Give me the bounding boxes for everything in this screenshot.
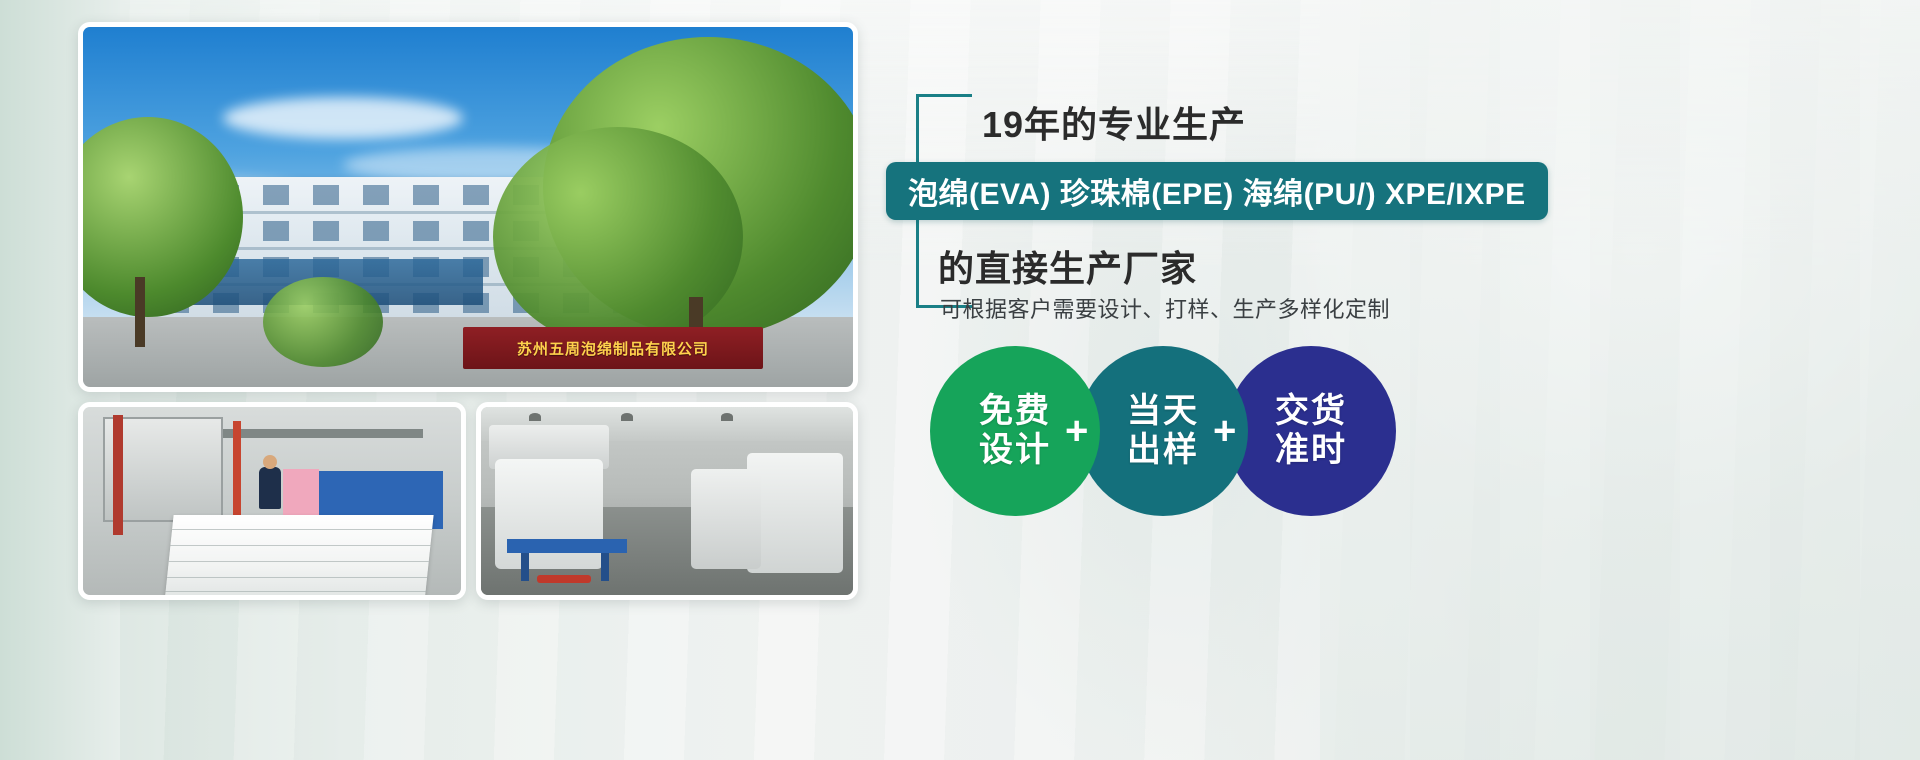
product-tag-text: 泡绵(EVA) 珍珠棉(EPE) 海绵(PU/) XPE/IXPE (908, 169, 1526, 213)
banner-content: 19年的专业生产 泡绵(EVA) 珍珠棉(EPE) 海绵(PU/) XPE/IX… (916, 0, 1920, 760)
plus-separator-2: + (1213, 411, 1236, 451)
feature-circles: 免费 设计 + 当天 出样 + 交货 准时 (930, 346, 1490, 516)
photo-collage: 苏州五周泡绵制品有限公司 (78, 22, 858, 600)
feature-circle-on-time-delivery: 交货 准时 (1226, 346, 1396, 516)
tree (493, 127, 743, 347)
feature-line-2: 设计 (979, 431, 1051, 470)
feature-line-1: 交货 (1275, 392, 1347, 431)
factory-sign-text: 苏州五周泡绵制品有限公司 (517, 338, 709, 359)
headline-top: 19年的专业生产 (982, 96, 1246, 148)
feature-line-1: 免费 (979, 392, 1051, 431)
promo-banner: 苏州五周泡绵制品有限公司 (0, 0, 1920, 760)
plus-separator-1: + (1065, 411, 1088, 451)
feature-line-2: 准时 (1275, 431, 1347, 470)
feature-line-2: 出样 (1127, 431, 1199, 470)
product-tag-bar: 泡绵(EVA) 珍珠棉(EPE) 海绵(PU/) XPE/IXPE (886, 162, 1548, 220)
headline-bottom: 的直接生产厂家 (938, 240, 1197, 292)
factory-sign: 苏州五周泡绵制品有限公司 (463, 327, 763, 369)
sub-description: 可根据客户需要设计、打样、生产多样化定制 (940, 292, 1390, 324)
photo-warehouse-aisle (476, 402, 858, 600)
cloud (223, 97, 463, 139)
photo-foam-cutting-workshop (78, 402, 466, 600)
tree-trunk (135, 277, 145, 347)
tree (263, 277, 383, 367)
photo-factory-exterior: 苏州五周泡绵制品有限公司 (78, 22, 858, 392)
foam-sheet-stack (164, 515, 433, 600)
feature-line-1: 当天 (1127, 392, 1199, 431)
